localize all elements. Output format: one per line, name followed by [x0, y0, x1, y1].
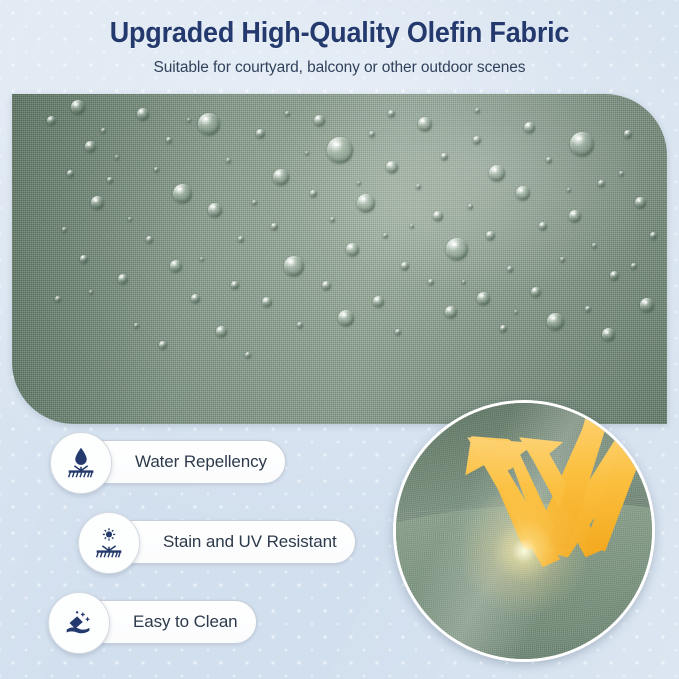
- water-droplet: [146, 236, 153, 243]
- water-droplet: [137, 108, 149, 120]
- water-droplet: [416, 184, 421, 189]
- feature-label: Stain and UV Resistant: [163, 532, 337, 552]
- page-subtitle: Suitable for courtyard, balcony or other…: [0, 59, 679, 77]
- hero-fabric-image: [12, 94, 667, 424]
- water-droplet: [71, 100, 85, 114]
- feature-water-repellency[interactable]: Water Repellency: [50, 432, 78, 494]
- water-droplet: [198, 113, 220, 135]
- water-droplet: [62, 227, 67, 232]
- water-droplet: [489, 165, 505, 181]
- water-droplet: [631, 263, 637, 269]
- water-droplet: [357, 194, 375, 212]
- water-droplet: [516, 186, 530, 200]
- water-droplet: [531, 287, 541, 297]
- feature-pill[interactable]: Stain and UV Resistant: [106, 520, 356, 564]
- water-droplet: [346, 243, 359, 256]
- feature-label: Water Repellency: [135, 452, 267, 472]
- water-droplet: [619, 171, 624, 176]
- uv-reflection-inset: [393, 400, 655, 662]
- feature-list: Water Repellency Stain and UV Resistant: [0, 432, 78, 672]
- water-droplet: [468, 204, 473, 209]
- water-droplet: [89, 290, 93, 294]
- water-droplet: [173, 184, 192, 203]
- water-droplet: [322, 281, 331, 290]
- water-droplet: [598, 180, 605, 187]
- page-title: Upgraded High-Quality Olefin Fabric: [24, 17, 655, 50]
- water-droplet: [226, 158, 231, 163]
- water-droplet: [80, 255, 88, 263]
- water-droplet: [200, 257, 204, 261]
- water-droplet: [410, 224, 414, 228]
- water-droplet: [539, 222, 547, 230]
- sun-on-fabric-icon: [78, 512, 140, 574]
- header: Upgraded High-Quality Olefin Fabric Suit…: [0, 0, 679, 77]
- water-droplet: [401, 262, 409, 270]
- water-droplet: [602, 328, 615, 341]
- water-droplet: [245, 352, 251, 358]
- water-droplet: [91, 196, 104, 209]
- water-droplet: [159, 341, 167, 349]
- water-droplet: [208, 203, 222, 217]
- water-drop-on-fabric-icon: [50, 432, 112, 494]
- water-droplet: [560, 257, 565, 262]
- uv-arrows-icon: [396, 403, 652, 659]
- water-droplet: [55, 296, 61, 302]
- water-droplet: [486, 231, 495, 240]
- water-droplet: [310, 190, 317, 197]
- water-droplet: [134, 323, 139, 328]
- water-droplet: [524, 122, 535, 133]
- water-droplet: [101, 128, 106, 133]
- water-droplet: [191, 294, 200, 303]
- water-droplet: [327, 137, 353, 163]
- water-droplet: [369, 131, 375, 137]
- water-droplet: [624, 130, 632, 138]
- water-droplet: [462, 280, 466, 284]
- water-droplet: [386, 161, 398, 173]
- water-droplet: [441, 153, 448, 160]
- feature-easy-to-clean[interactable]: Easy to Clean: [48, 592, 78, 654]
- water-droplet: [271, 223, 278, 230]
- feature-label: Easy to Clean: [133, 612, 238, 632]
- water-droplet: [273, 169, 289, 185]
- water-droplet: [170, 260, 182, 272]
- water-droplet: [475, 108, 480, 113]
- water-droplet: [445, 306, 457, 318]
- water-droplet: [500, 325, 507, 332]
- water-droplet: [585, 306, 591, 312]
- hand-with-sparkle-icon: [48, 592, 110, 654]
- water-droplet: [507, 266, 513, 272]
- water-droplet: [284, 256, 304, 276]
- water-droplet: [567, 188, 571, 192]
- water-droplet: [433, 211, 443, 221]
- water-droplet: [418, 117, 432, 131]
- water-droplet: [285, 111, 290, 116]
- water-droplet: [570, 132, 594, 156]
- water-droplet: [115, 155, 119, 159]
- water-droplet: [47, 116, 56, 125]
